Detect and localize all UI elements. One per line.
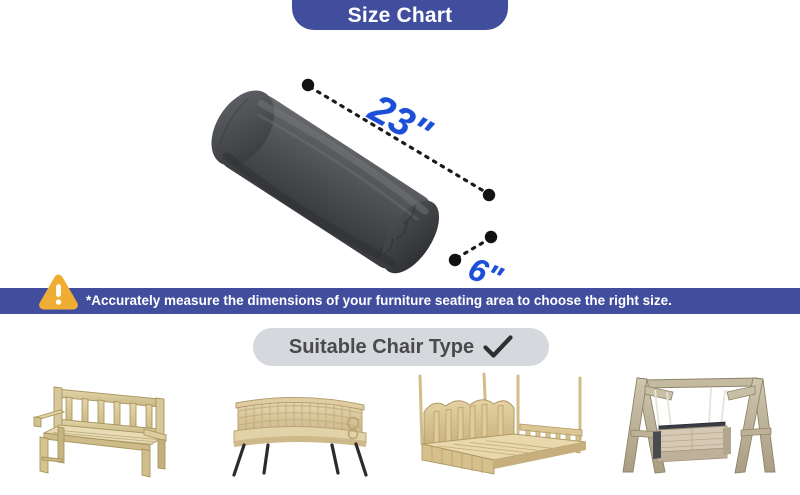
cushion-illustration (0, 30, 800, 285)
size-chart-header-banner: Size Chart (292, 0, 508, 30)
measurement-warning-bar: *Accurately measure the dimensions of yo… (0, 288, 800, 314)
furniture-item-rattan-wicker-loveseat (200, 368, 400, 486)
check-icon (483, 335, 513, 359)
suitable-furniture-row (0, 368, 800, 486)
size-chart-infographic: Size Chart (0, 0, 800, 495)
furniture-item-wooden-porch-swing-bed (400, 368, 600, 486)
warning-text: *Accurately measure the dimensions of yo… (86, 294, 672, 308)
warning-triangle-icon (37, 272, 80, 312)
furniture-item-a-frame-swing-stand (600, 368, 800, 486)
page-title: Size Chart (348, 5, 453, 26)
suitable-chair-type-badge: Suitable Chair Type (253, 328, 549, 366)
product-diagram: 23" 6" (0, 30, 800, 285)
suitable-chair-type-label: Suitable Chair Type (289, 337, 474, 357)
furniture-item-wooden-garden-bench (0, 368, 200, 486)
